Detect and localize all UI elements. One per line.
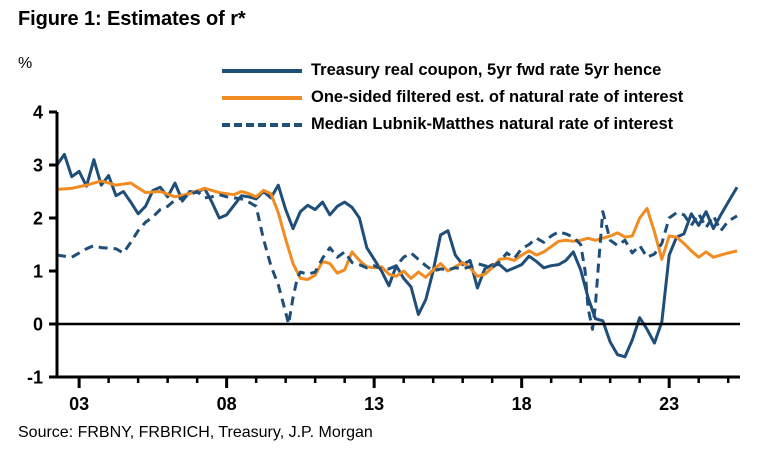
y-tick-label: 1 <box>33 262 43 282</box>
y-tick-label: 0 <box>33 315 43 335</box>
figure-container: Figure 1: Estimates of r* % Treasury rea… <box>0 0 767 462</box>
series-layer <box>57 154 737 356</box>
y-tick-label: -1 <box>27 368 43 388</box>
source-note: Source: FRBNY, FRBRICH, Treasury, J.P. M… <box>18 424 373 442</box>
series-line-0 <box>57 154 737 356</box>
y-tick-label: 3 <box>33 156 43 176</box>
tick-label-layer: -1012340308131823 <box>27 103 679 415</box>
chart-plot-area: -1012340308131823 <box>0 0 767 462</box>
x-tick-label: 13 <box>364 394 384 414</box>
y-tick-label: 4 <box>33 103 43 123</box>
y-tick-label: 2 <box>33 209 43 229</box>
x-tick-label: 08 <box>217 394 237 414</box>
series-line-2 <box>57 192 737 330</box>
x-tick-label: 23 <box>659 394 679 414</box>
x-tick-label: 03 <box>69 394 89 414</box>
x-tick-label: 18 <box>512 394 532 414</box>
